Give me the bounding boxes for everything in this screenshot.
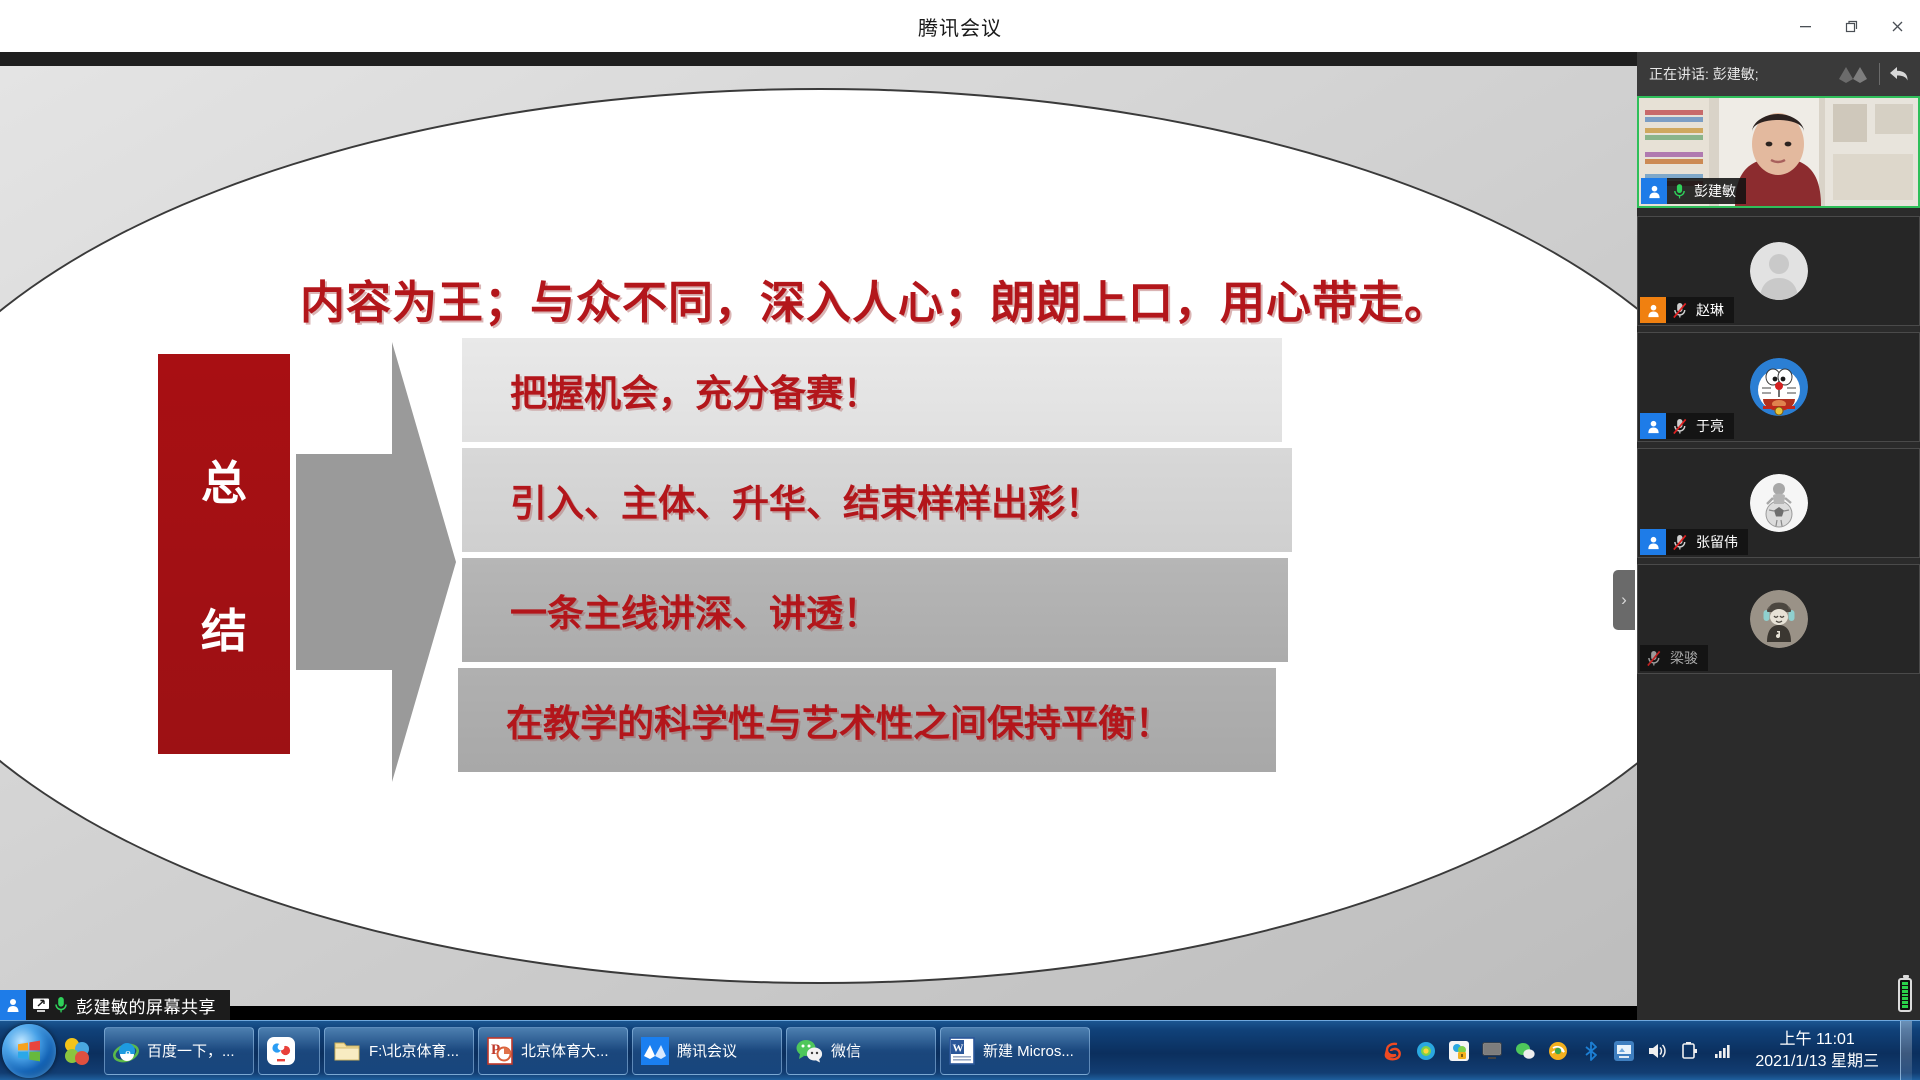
battery-glyph — [1680, 1041, 1700, 1061]
participant-role-badge — [1641, 178, 1667, 204]
summary-label-block: 总 结 — [158, 354, 290, 754]
person-icon — [1646, 419, 1661, 434]
window-title-bar: 腾讯会议 — [0, 0, 1920, 52]
participant-name: 赵琳 — [1690, 300, 1734, 320]
slide-bar-2: 引入、主体、升华、结束样样出彩！ — [462, 448, 1292, 552]
presentation-slide: 内容为王；与众不同，深入人心；朗朗上口，用心带走。 总 结 把握机会，充分备赛！… — [0, 66, 1637, 1006]
bluetooth-icon[interactable] — [1580, 1040, 1602, 1062]
participant-name: 彭建敏 — [1688, 181, 1746, 201]
slide-heading: 内容为王；与众不同，深入人心；朗朗上口，用心带走。 — [300, 266, 1360, 331]
participant-name: 张留伟 — [1690, 532, 1748, 552]
taskbar-item-wechat[interactable]: 微信 — [786, 1027, 936, 1075]
taskbar-item-tencent-meeting[interactable]: 腾讯会议 — [632, 1027, 782, 1075]
microphone-muted-icon — [1672, 534, 1688, 551]
battery-bar — [1902, 997, 1908, 1000]
avatar — [1750, 590, 1808, 648]
battery-level-indicator — [1898, 978, 1912, 1012]
microphone-muted-icon — [1672, 302, 1688, 319]
app-body: 内容为王；与众不同，深入人心；朗朗上口，用心带走。 总 结 把握机会，充分备赛！… — [0, 52, 1920, 1020]
chevron-right-icon: › — [1621, 590, 1627, 610]
battery-bar — [1902, 1005, 1908, 1008]
participant-tile-avatar[interactable]: 赵琳 — [1637, 216, 1920, 326]
participants-panel-header: 正在讲话: 彭建敏; — [1637, 52, 1920, 96]
microphone-muted-icon — [1672, 418, 1688, 435]
microphone-muted-icon — [1646, 650, 1662, 667]
participant-role-badge — [1640, 529, 1666, 555]
person-icon — [5, 997, 21, 1013]
person-icon — [1646, 535, 1661, 550]
alipay-glyph — [1548, 1041, 1568, 1061]
participant-tile-avatar[interactable]: 梁骏 — [1637, 564, 1920, 674]
wechat-glyph — [1515, 1042, 1535, 1060]
battery-icon[interactable] — [1679, 1040, 1701, 1062]
participant-role-badge — [1640, 413, 1666, 439]
participant-badge-icon — [0, 990, 26, 1020]
sogou-input-icon[interactable] — [1382, 1040, 1404, 1062]
baidu-netdisk-icon — [267, 1037, 295, 1065]
person-icon — [1646, 303, 1661, 318]
close-icon — [1890, 19, 1905, 34]
battery-bar — [1902, 1001, 1908, 1004]
taskbar-task-buttons: e 百度一下，... F:\北京体育... — [104, 1027, 1090, 1075]
taskbar-item-label: 新建 Micros... — [983, 1040, 1074, 1061]
ie-icon: e — [113, 1038, 139, 1064]
taskbar-clock[interactable]: 上午 11:01 2021/1/13 星期三 — [1745, 1029, 1887, 1072]
screen-share-status-bar: 彭建敏的屏幕共享 — [0, 990, 230, 1020]
maximize-button[interactable] — [1828, 0, 1874, 52]
screen-icon[interactable] — [1481, 1040, 1503, 1062]
taskbar-item-word[interactable]: W 新建 Micros... — [940, 1027, 1090, 1075]
mic-status — [1640, 650, 1664, 667]
participant-name: 于亮 — [1690, 416, 1734, 436]
taskbar-item-label: 腾讯会议 — [677, 1040, 737, 1061]
minimize-button[interactable] — [1782, 0, 1828, 52]
screen-share-icon — [32, 996, 50, 1014]
participants-panel: 正在讲话: 彭建敏; — [1637, 52, 1920, 1020]
wechat-tray-icon[interactable] — [1514, 1040, 1536, 1062]
wechat-icon — [795, 1038, 823, 1064]
default-avatar-icon — [1750, 242, 1808, 300]
360-safe-glyph — [1449, 1041, 1469, 1061]
battery-bar — [1902, 994, 1908, 997]
participant-name-bar: 梁骏 — [1640, 645, 1708, 671]
soccer-figure-avatar-icon — [1750, 474, 1808, 532]
svg-text:e: e — [125, 1045, 131, 1060]
participant-name-bar: 张留伟 — [1640, 529, 1748, 555]
avatar — [1750, 358, 1808, 416]
slide-bars: 把握机会，充分备赛！ 引入、主体、升华、结束样样出彩！ 一条主线讲深、讲透！ 在… — [462, 338, 1282, 778]
svg-text:W: W — [953, 1042, 964, 1054]
summary-char-1: 总 — [201, 447, 247, 513]
taskbar-item-netdisk[interactable] — [258, 1027, 320, 1075]
signal-bars-glyph — [1713, 1042, 1733, 1060]
arrow-shape — [296, 342, 456, 782]
avatar — [1750, 242, 1808, 300]
windows-taskbar: e 百度一下，... F:\北京体育... — [0, 1020, 1920, 1080]
clock-time: 上午 11:01 — [1755, 1029, 1879, 1051]
battery-bar — [1902, 982, 1908, 985]
participant-tile-avatar[interactable]: 于亮 — [1637, 332, 1920, 442]
taskbar-item-label: 微信 — [831, 1040, 861, 1061]
volume-icon[interactable] — [1646, 1040, 1668, 1062]
headphones-boy-avatar-icon — [1750, 590, 1808, 648]
start-button[interactable] — [2, 1024, 56, 1078]
powerpoint-icon: P — [487, 1037, 513, 1065]
participant-name: 梁骏 — [1664, 648, 1708, 668]
slide-content: 内容为王；与众不同，深入人心；朗朗上口，用心带走。 总 结 把握机会，充分备赛！… — [0, 66, 1637, 1006]
taskbar-item-label: 北京体育大... — [521, 1040, 609, 1061]
screen-share-owner-label: 彭建敏的屏幕共享 — [72, 993, 216, 1018]
360-browser-icon[interactable] — [1415, 1040, 1437, 1062]
bluetooth-glyph — [1583, 1041, 1599, 1061]
speaker-glyph — [1646, 1041, 1668, 1061]
doraemon-avatar-icon — [1750, 358, 1808, 416]
360-browser-glyph — [1416, 1041, 1436, 1061]
person-icon — [1647, 184, 1662, 199]
clock-date: 2021/1/13 星期三 — [1755, 1051, 1879, 1073]
window-controls — [1782, 0, 1920, 52]
network-share-icon[interactable] — [1613, 1040, 1635, 1062]
tencent-meeting-logo-icon — [1837, 63, 1871, 85]
close-button[interactable] — [1874, 0, 1920, 52]
windows-logo-icon — [16, 1038, 42, 1064]
mic-status — [1666, 302, 1690, 319]
taskbar-item-label: 百度一下，... — [147, 1040, 235, 1061]
slide-bar-1: 把握机会，充分备赛！ — [462, 338, 1282, 442]
avatar — [1750, 474, 1808, 532]
battery-bar — [1902, 990, 1908, 993]
taskbar-item-explorer[interactable]: F:\北京体育... — [324, 1027, 474, 1075]
mic-status — [1667, 183, 1688, 200]
quicklaunch-360-icon[interactable] — [56, 1036, 98, 1066]
participant-name-bar: 彭建敏 — [1641, 178, 1746, 204]
meeting-app-window: 腾讯会议 — [0, 0, 1920, 1080]
slide-bar-4: 在教学的科学性与艺术性之间保持平衡！ — [458, 668, 1276, 772]
participant-tile-avatar[interactable]: 张留伟 — [1637, 448, 1920, 558]
word-icon: W — [949, 1037, 975, 1065]
mic-status — [1666, 534, 1690, 551]
shared-screen-region[interactable]: 内容为王；与众不同，深入人心；朗朗上口，用心带走。 总 结 把握机会，充分备赛！… — [0, 66, 1637, 1020]
active-speaker-label: 正在讲话: 彭建敏; — [1649, 64, 1759, 84]
participant-tiles-list[interactable]: 彭建敏 — [1637, 96, 1920, 1020]
microphone-on-icon — [1673, 183, 1686, 200]
collapse-participants-panel-button[interactable]: › — [1613, 570, 1635, 630]
minimize-icon — [1798, 19, 1813, 34]
header-divider — [1879, 63, 1880, 85]
signal-icon[interactable] — [1712, 1040, 1734, 1062]
microphone-on-icon — [54, 996, 68, 1014]
alipay-icon[interactable] — [1547, 1040, 1569, 1062]
slide-bar-3: 一条主线讲深、讲透！ — [462, 558, 1288, 662]
participant-name-bar: 于亮 — [1640, 413, 1734, 439]
participant-name-bar: 赵琳 — [1640, 297, 1734, 323]
mic-status — [1666, 418, 1690, 435]
network-glyph — [1614, 1041, 1634, 1061]
taskbar-item-ie[interactable]: e 百度一下，... — [104, 1027, 254, 1075]
taskbar-item-powerpoint[interactable]: P 北京体育大... — [478, 1027, 628, 1075]
panel-header-icons — [1837, 63, 1910, 85]
360-safe-icon[interactable] — [1448, 1040, 1470, 1062]
participant-tile-video[interactable]: 彭建敏 — [1637, 96, 1920, 208]
folder-icon — [333, 1039, 361, 1063]
share-indicators — [26, 996, 72, 1014]
back-arrow-icon[interactable] — [1888, 64, 1910, 84]
show-desktop-icon — [62, 1036, 92, 1066]
summary-char-2: 结 — [201, 595, 247, 661]
participant-role-badge — [1640, 297, 1666, 323]
taskbar-item-label: F:\北京体育... — [369, 1040, 459, 1061]
tencent-meeting-icon — [641, 1037, 669, 1065]
sogou-glyph — [1383, 1041, 1403, 1061]
window-title: 腾讯会议 — [918, 12, 1002, 41]
show-desktop-button[interactable] — [1900, 1021, 1912, 1080]
monitor-glyph — [1481, 1041, 1503, 1061]
battery-bar — [1902, 986, 1908, 989]
system-tray: 上午 11:01 2021/1/13 星期三 — [1382, 1021, 1920, 1080]
restore-icon — [1844, 19, 1859, 34]
